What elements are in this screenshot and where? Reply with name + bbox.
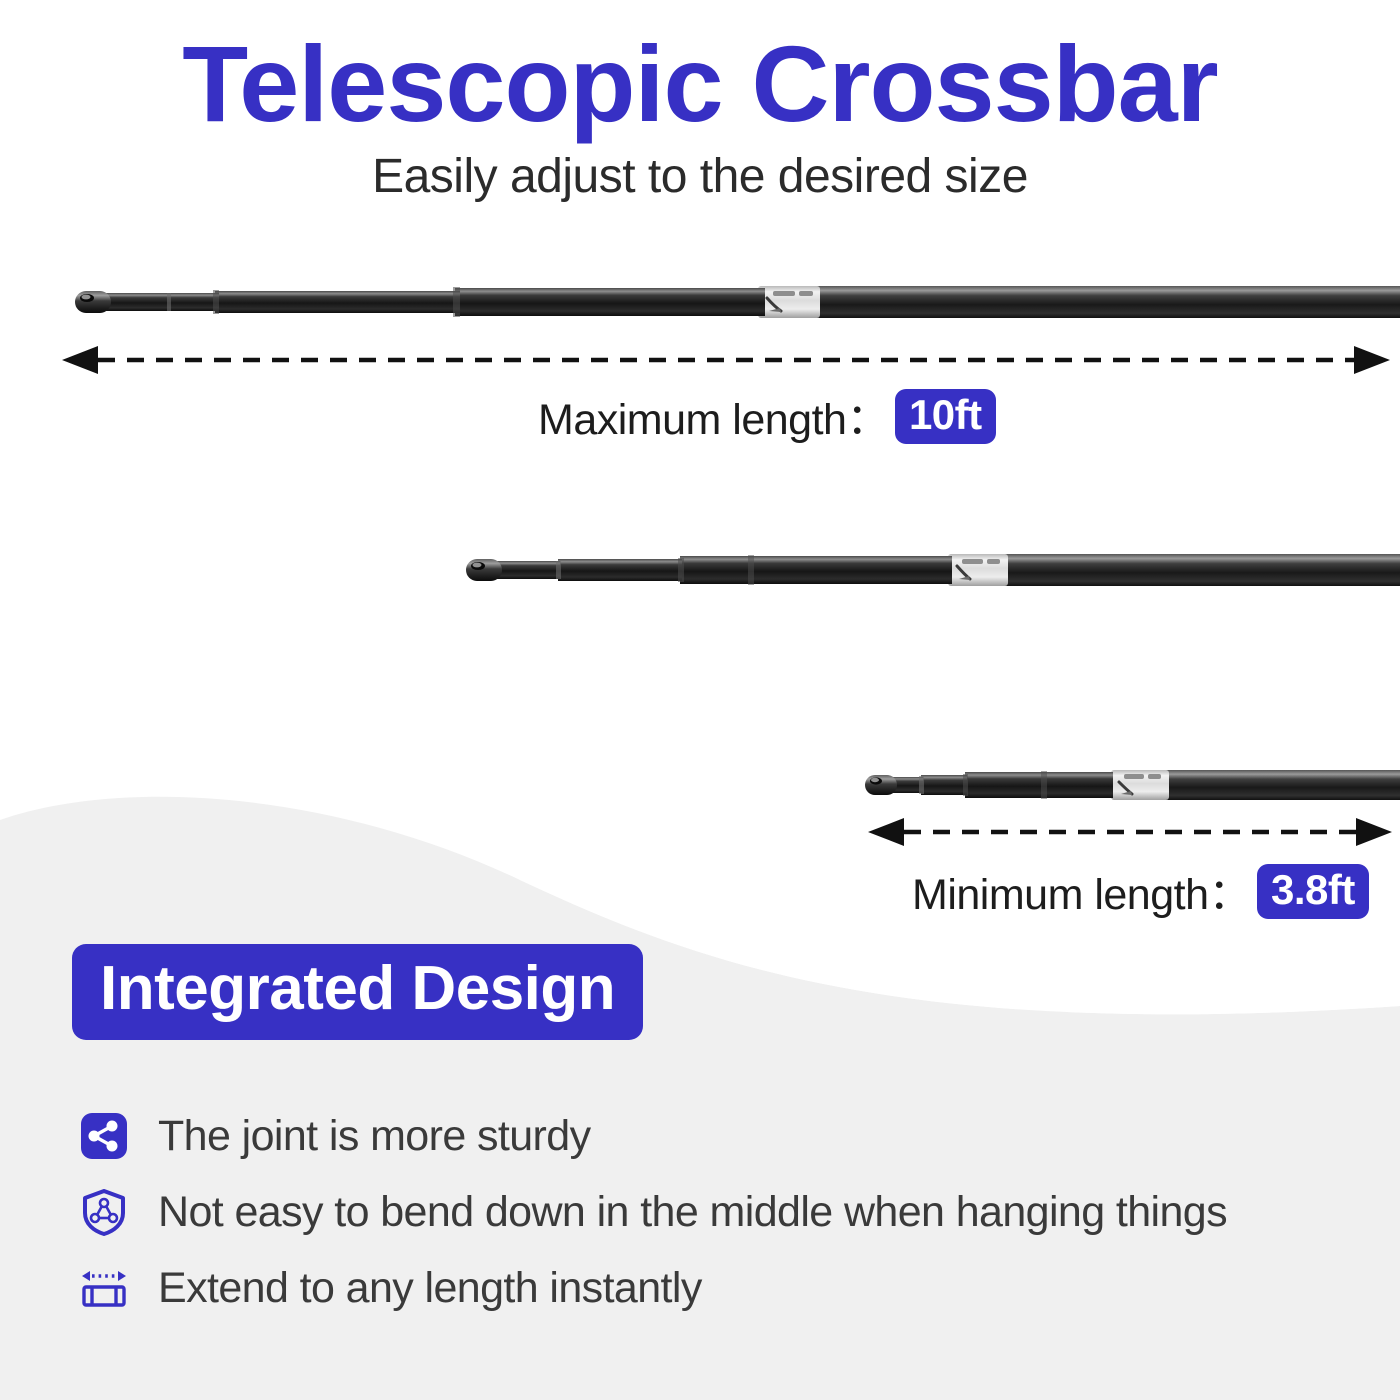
feature-label: Not easy to bend down in the middle when…: [158, 1188, 1227, 1237]
share-nodes-icon: [78, 1110, 130, 1162]
feature-list: The joint is more sturdy Not easy to ben…: [78, 1098, 1227, 1326]
integrated-design-banner: Integrated Design: [72, 944, 643, 1040]
maximum-length-badge: 10ft: [895, 389, 996, 444]
rod-partially-extended: [448, 540, 1400, 612]
feature-label: The joint is more sturdy: [158, 1112, 590, 1161]
page-subtitle: Easily adjust to the desired size: [0, 149, 1400, 204]
maximum-length-label: Maximum length： 10ft: [538, 385, 996, 447]
feature-item-joint-sturdy: The joint is more sturdy: [78, 1098, 1227, 1174]
minimum-length-badge: 3.8ft: [1257, 864, 1369, 919]
integrated-design-text: Integrated Design: [100, 958, 615, 1020]
shield-network-icon: [78, 1186, 130, 1238]
dimension-arrow-maximum: [52, 340, 1400, 380]
header-block: Telescopic Crossbar Easily adjust to the…: [0, 26, 1400, 204]
feature-item-extend-instantly: Extend to any length instantly: [78, 1250, 1227, 1326]
rod-fully-extended: [55, 272, 1400, 344]
extend-bar-icon: [78, 1262, 130, 1314]
page-title: Telescopic Crossbar: [0, 26, 1400, 143]
maximum-length-text: Maximum length：: [538, 385, 889, 447]
dimension-arrow-minimum: [860, 812, 1400, 852]
minimum-length-label: Minimum length： 3.8ft: [912, 860, 1369, 922]
minimum-length-text: Minimum length：: [912, 860, 1251, 922]
infographic-canvas: Telescopic Crossbar Easily adjust to the…: [0, 0, 1400, 1400]
feature-label: Extend to any length instantly: [158, 1264, 702, 1313]
feature-item-no-bend: Not easy to bend down in the middle when…: [78, 1174, 1227, 1250]
